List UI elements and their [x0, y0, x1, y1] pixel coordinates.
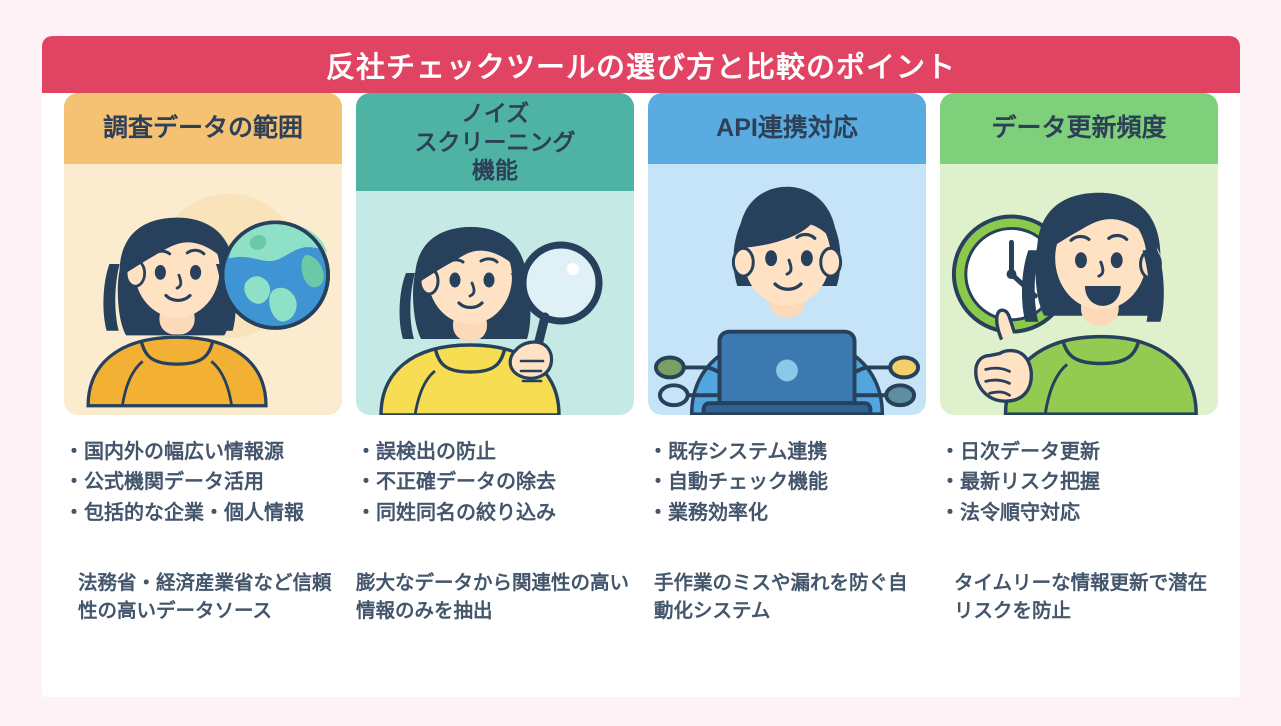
illustration-man-with-laptop — [648, 164, 926, 415]
list-item: ・最新リスク把握 — [940, 467, 1218, 497]
content-card: 反社チェックツールの選び方と比較のポイント 調査データの範囲 — [42, 36, 1240, 697]
panel-heading-text: 調査データの範囲 — [103, 113, 303, 144]
list-item: ・同姓同名の絞り込み — [356, 498, 634, 528]
note-api-integration: 手作業のミスや漏れを防ぐ自動化システム — [648, 570, 926, 625]
panel-heading-text: ノイズ スクリーニング 機能 — [415, 99, 576, 185]
panel-api-integration: API連携対応 — [648, 93, 926, 415]
panel-header-survey-data-scope: 調査データの範囲 — [64, 93, 342, 164]
panel-data-update-frequency: データ更新頻度 — [940, 93, 1218, 415]
panel-noise-screening: ノイズ スクリーニング 機能 — [356, 93, 634, 415]
column-survey-data-scope: 調査データの範囲 — [64, 93, 342, 697]
panel-header-api-integration: API連携対応 — [648, 93, 926, 164]
slide-root: 反社チェックツールの選び方と比較のポイント 調査データの範囲 — [0, 0, 1281, 726]
comparison-columns: 調査データの範囲 — [42, 93, 1240, 697]
list-item: ・日次データ更新 — [940, 437, 1218, 467]
panel-heading-text: API連携対応 — [716, 113, 858, 144]
page-title: 反社チェックツールの選び方と比較のポイント — [326, 44, 956, 86]
illustration-woman-with-globe — [64, 164, 342, 415]
panel-survey-data-scope: 調査データの範囲 — [64, 93, 342, 415]
note-noise-screening: 膨大なデータから関連性の高い情報のみを抽出 — [356, 570, 634, 625]
panel-header-data-update-frequency: データ更新頻度 — [940, 93, 1218, 164]
bullet-list-api-integration: ・既存システム連携 ・自動チェック機能 ・業務効率化 — [648, 437, 926, 528]
list-item: ・包括的な企業・個人情報 — [64, 498, 342, 528]
list-item: ・国内外の幅広い情報源 — [64, 437, 342, 467]
panel-header-noise-screening: ノイズ スクリーニング 機能 — [356, 93, 634, 191]
bullet-list-survey-data-scope: ・国内外の幅広い情報源 ・公式機関データ活用 ・包括的な企業・個人情報 — [64, 437, 342, 528]
bullet-list-noise-screening: ・誤検出の防止 ・不正確データの除去 ・同姓同名の絞り込み — [356, 437, 634, 528]
column-data-update-frequency: データ更新頻度 — [940, 93, 1218, 697]
list-item: ・法令順守対応 — [940, 498, 1218, 528]
panel-heading-text: データ更新頻度 — [991, 113, 1166, 144]
list-item: ・不正確データの除去 — [356, 467, 634, 497]
list-item: ・公式機関データ活用 — [64, 467, 342, 497]
bullet-list-data-update-frequency: ・日次データ更新 ・最新リスク把握 ・法令順守対応 — [940, 437, 1218, 528]
illustration-woman-with-magnifier — [356, 191, 634, 415]
note-survey-data-scope: 法務省・経済産業省など信頼性の高いデータソース — [64, 570, 342, 625]
list-item: ・誤検出の防止 — [356, 437, 634, 467]
list-item: ・業務効率化 — [648, 498, 926, 528]
title-bar: 反社チェックツールの選び方と比較のポイント — [42, 36, 1240, 93]
note-data-update-frequency: タイムリーな情報更新で潜在リスクを防止 — [940, 570, 1218, 625]
column-api-integration: API連携対応 — [648, 93, 926, 697]
illustration-woman-with-clock — [940, 164, 1218, 415]
column-noise-screening: ノイズ スクリーニング 機能 — [356, 93, 634, 697]
list-item: ・自動チェック機能 — [648, 467, 926, 497]
list-item: ・既存システム連携 — [648, 437, 926, 467]
